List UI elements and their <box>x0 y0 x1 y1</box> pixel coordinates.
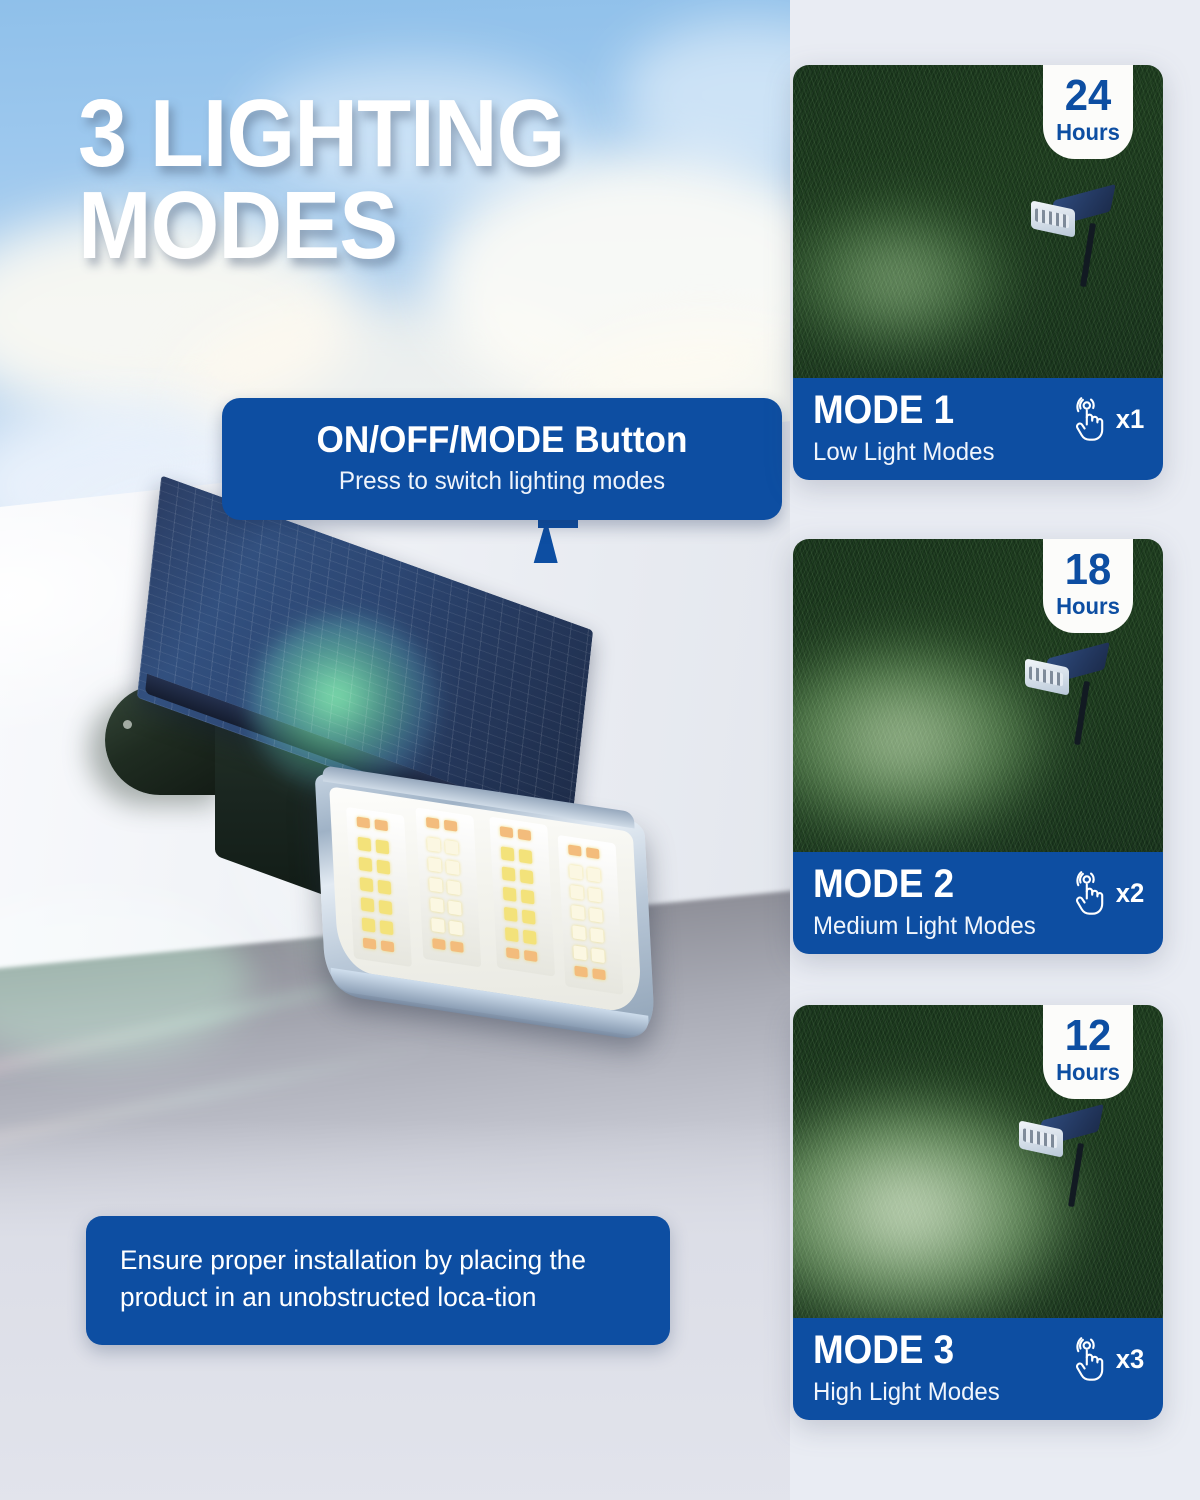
led-chip <box>361 897 375 912</box>
led-chip <box>506 947 520 959</box>
led-chip <box>591 948 605 963</box>
led-chip <box>521 889 535 904</box>
led-chip <box>360 877 374 892</box>
led-chip <box>381 940 395 952</box>
led-chip <box>588 888 602 903</box>
led-chip <box>358 837 372 852</box>
infographic-root: 3 LIGHTING MODES ON/OFF/MODE Button Pres… <box>0 0 1200 1500</box>
mode-card[interactable]: 24 Hours MODE 1 Low Light Modes <box>793 65 1163 480</box>
led-chip <box>446 860 460 875</box>
led-chip <box>572 925 586 940</box>
mode-label-bar: MODE 1 Low Light Modes <box>793 378 1163 480</box>
led-chip <box>503 887 517 902</box>
tap-count: x2 <box>1116 878 1145 909</box>
led-chip <box>432 938 446 950</box>
led-chip <box>592 968 606 980</box>
led-chip <box>430 898 444 913</box>
light-pool <box>793 205 1013 355</box>
tap-indicator: x2 <box>1067 870 1145 916</box>
page-title-line-2: MODES <box>78 180 667 272</box>
onoffmode-callout: ON/OFF/MODE Button Press to switch light… <box>222 398 782 520</box>
led-chip <box>590 928 604 943</box>
hand-tap-icon <box>1067 870 1111 916</box>
led-head <box>315 772 656 1039</box>
mode-label-texts: MODE 1 Low Light Modes <box>813 390 1002 467</box>
led-chip <box>523 930 537 945</box>
tap-indicator: x3 <box>1067 1336 1145 1382</box>
hours-unit: Hours <box>1045 119 1131 145</box>
mode-name: MODE 2 <box>813 864 1026 904</box>
hours-unit: Hours <box>1045 1059 1131 1085</box>
page-title: 3 LIGHTING MODES <box>78 88 667 272</box>
led-chip <box>380 920 394 935</box>
led-chip <box>376 839 390 854</box>
led-chip <box>377 860 391 875</box>
led-chip <box>359 857 373 872</box>
installation-note-text: Ensure proper installation by placing th… <box>120 1242 621 1315</box>
hours-value: 18 <box>1045 549 1131 591</box>
led-chip <box>571 905 585 920</box>
led-chip <box>447 880 461 895</box>
mode-name: MODE 3 <box>813 1330 992 1370</box>
led-chip <box>574 966 588 978</box>
led-chip <box>450 941 464 953</box>
led-chip <box>520 869 534 884</box>
led-chip <box>524 950 538 962</box>
led-chip <box>502 866 516 881</box>
led-chip <box>357 817 371 829</box>
callout-title: ON/OFF/MODE Button <box>255 420 749 459</box>
led-chip <box>445 840 459 855</box>
product-hero-scene: 3 LIGHTING MODES ON/OFF/MODE Button Pres… <box>0 0 790 1500</box>
led-chip <box>363 938 377 950</box>
callout-subtitle: Press to switch lighting modes <box>250 466 754 496</box>
bracket-screw-dot <box>123 720 132 729</box>
mode-description: High Light Modes <box>813 1379 1000 1407</box>
led-chip <box>431 918 445 933</box>
led-chip <box>586 847 600 859</box>
mode-description: Low Light Modes <box>813 439 994 467</box>
led-chip <box>428 857 442 872</box>
led-chip <box>573 945 587 960</box>
led-chip <box>504 907 518 922</box>
mode-description: Medium Light Modes <box>813 913 1036 941</box>
led-chip <box>378 880 392 895</box>
hand-tap-icon <box>1067 1336 1111 1382</box>
led-chip <box>589 908 603 923</box>
mode-card[interactable]: 18 Hours MODE 2 Medium Light Modes <box>793 539 1163 954</box>
lamp-ground-stake <box>1068 1143 1084 1207</box>
led-chip <box>362 917 376 932</box>
hours-unit: Hours <box>1045 593 1131 619</box>
hours-badge: 12 Hours <box>1043 1005 1133 1099</box>
led-chip <box>448 900 462 915</box>
page-title-line-1: 3 LIGHTING <box>78 88 667 180</box>
led-chip <box>449 921 463 936</box>
hours-value: 24 <box>1045 75 1131 117</box>
led-chip <box>568 844 582 856</box>
mode-label-bar: MODE 2 Medium Light Modes <box>793 852 1163 954</box>
led-chip <box>587 867 601 882</box>
led-chip <box>522 910 536 925</box>
led-chip <box>501 846 515 861</box>
hours-badge: 24 Hours <box>1043 65 1133 159</box>
mode-photo: 24 Hours <box>793 65 1163 378</box>
led-chip <box>375 819 389 831</box>
mode-name: MODE 1 <box>813 390 987 430</box>
led-chip <box>500 826 514 838</box>
led-chip <box>570 885 584 900</box>
mode-card[interactable]: 12 Hours MODE 3 High Light Modes <box>793 1005 1163 1420</box>
led-chip <box>518 829 532 841</box>
tap-count: x1 <box>1116 404 1145 435</box>
led-chip <box>505 927 519 942</box>
lamp-ground-stake <box>1080 223 1096 287</box>
hours-badge: 18 Hours <box>1043 539 1133 633</box>
solar-lamp <box>1029 193 1115 289</box>
mode-label-texts: MODE 3 High Light Modes <box>813 1330 1008 1407</box>
led-chip <box>444 820 458 832</box>
solar-light-product <box>95 520 715 1050</box>
hand-tap-icon <box>1067 396 1111 442</box>
installation-note: Ensure proper installation by placing th… <box>86 1216 670 1345</box>
hours-value: 12 <box>1045 1015 1131 1057</box>
tap-indicator: x1 <box>1067 396 1145 442</box>
led-chip <box>426 817 440 829</box>
mode-card-list: 24 Hours MODE 1 Low Light Modes <box>793 0 1165 1500</box>
led-chip <box>429 878 443 893</box>
mode-label-texts: MODE 2 Medium Light Modes <box>813 864 1045 941</box>
lamp-ground-stake <box>1074 681 1090 745</box>
mode-label-bar: MODE 3 High Light Modes <box>793 1318 1163 1420</box>
mode-photo: 18 Hours <box>793 539 1163 852</box>
solar-lamp <box>1017 1113 1103 1209</box>
mode-photo: 12 Hours <box>793 1005 1163 1318</box>
led-chip <box>569 865 583 880</box>
led-chip <box>519 849 533 864</box>
tap-count: x3 <box>1116 1344 1145 1375</box>
led-chip <box>379 900 393 915</box>
solar-lamp <box>1023 651 1109 747</box>
led-chip <box>427 837 441 852</box>
